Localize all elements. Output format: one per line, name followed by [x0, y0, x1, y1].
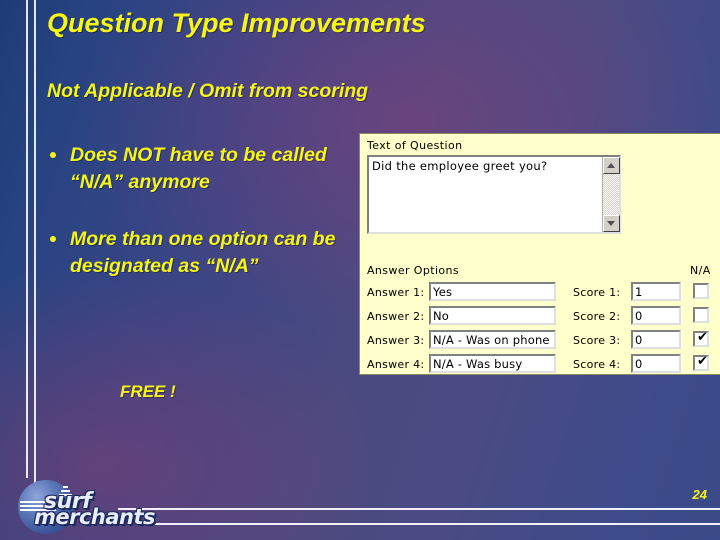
score-label: Score 2: — [573, 310, 620, 323]
answer-label: Answer 1: — [367, 286, 424, 299]
bullet-item-text: Does NOT have to be called “N/A” anymore — [70, 144, 327, 193]
question-text-textarea[interactable]: Did the employee greet you? — [367, 155, 621, 234]
score-input-value: 1 — [635, 285, 643, 299]
slide-subtitle: Not Applicable / Omit from scoring — [47, 80, 368, 103]
answer-input[interactable]: Yes — [429, 282, 556, 301]
slide-title: Question Type Improvements — [47, 8, 426, 39]
footer-rule-top — [118, 508, 720, 510]
bullet-item-text: More than one option can be designated a… — [70, 228, 335, 277]
bullet-dot-icon — [50, 236, 56, 242]
scroll-up-button[interactable] — [603, 157, 620, 174]
page-number: 24 — [693, 487, 707, 502]
score-input-value: 0 — [635, 309, 643, 323]
answer-row: Answer 1: Yes Score 1: 1 — [360, 282, 720, 304]
slide-canvas: Question Type Improvements Not Applicabl… — [0, 0, 720, 540]
bullet-item: More than one option can be designated a… — [44, 226, 344, 280]
answer-row: Answer 4: N/A - Was busy Score 4: 0 ✔ — [360, 354, 720, 375]
na-checkbox[interactable] — [693, 307, 709, 323]
bullet-list: Does NOT have to be called “N/A” anymore… — [44, 142, 344, 310]
free-callout: FREE ! — [120, 382, 176, 402]
triangle-up-icon — [607, 163, 615, 168]
answer-input-value: N/A - Was on phone — [433, 333, 550, 347]
na-checkbox[interactable]: ✔ — [693, 355, 709, 371]
answer-input-value: N/A - Was busy — [433, 357, 522, 371]
triangle-down-icon — [607, 221, 615, 226]
answer-row: Answer 3: N/A - Was on phone Score 3: 0 … — [360, 330, 720, 352]
score-input[interactable]: 1 — [631, 282, 681, 301]
footer-rule-bottom — [140, 523, 720, 525]
score-input[interactable]: 0 — [631, 354, 681, 373]
score-label: Score 1: — [573, 286, 620, 299]
bullet-item: Does NOT have to be called “N/A” anymore — [44, 142, 344, 196]
checkmark-icon: ✔ — [697, 355, 708, 368]
score-input[interactable]: 0 — [631, 306, 681, 325]
logo-text-merchants: merchants — [34, 505, 155, 529]
answer-label: Answer 4: — [367, 358, 424, 371]
bullet-dot-icon — [50, 152, 56, 158]
na-column-header: N/A — [690, 264, 711, 277]
score-label: Score 3: — [573, 334, 620, 347]
checkmark-icon: ✔ — [697, 331, 708, 344]
question-text-value: Did the employee greet you? — [372, 159, 547, 173]
answer-input[interactable]: No — [429, 306, 556, 325]
left-vertical-rule-inner — [34, 0, 36, 486]
answer-row: Answer 2: No Score 2: 0 — [360, 306, 720, 328]
answer-label: Answer 2: — [367, 310, 424, 323]
score-input[interactable]: 0 — [631, 330, 681, 349]
app-screenshot-panel: Text of Question Did the employee greet … — [359, 133, 720, 375]
na-checkbox[interactable]: ✔ — [693, 331, 709, 347]
score-label: Score 4: — [573, 358, 620, 371]
answer-options-label: Answer Options — [367, 264, 459, 277]
score-input-value: 0 — [635, 357, 643, 371]
left-vertical-rule-outer — [26, 0, 28, 478]
na-checkbox[interactable] — [693, 283, 709, 299]
text-of-question-label: Text of Question — [367, 139, 462, 152]
answer-label: Answer 3: — [367, 334, 424, 347]
answer-input-value: No — [433, 309, 449, 323]
answer-input[interactable]: N/A - Was busy — [429, 354, 556, 373]
score-input-value: 0 — [635, 333, 643, 347]
answer-input[interactable]: N/A - Was on phone — [429, 330, 556, 349]
question-scrollbar[interactable] — [602, 157, 619, 232]
answer-input-value: Yes — [433, 285, 452, 299]
scroll-down-button[interactable] — [603, 215, 620, 232]
